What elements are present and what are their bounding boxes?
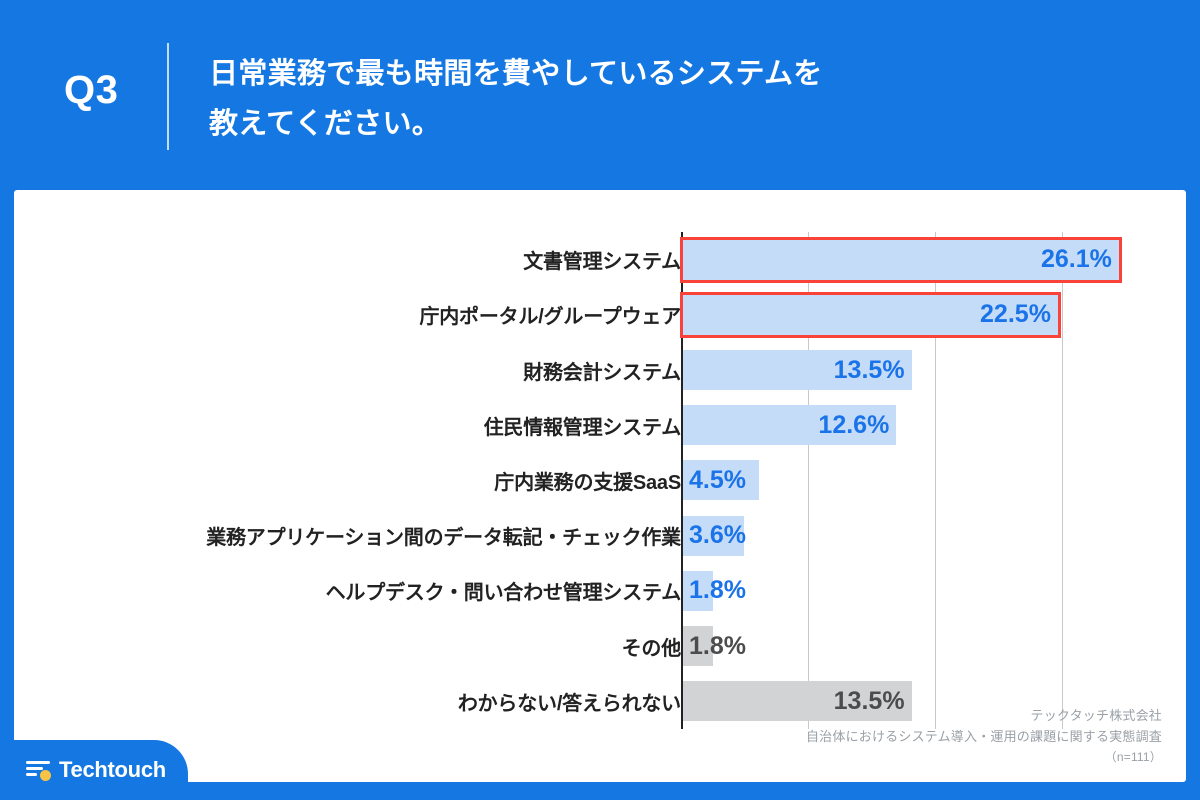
bar: 22.5%	[680, 292, 1061, 338]
bar-category-label: 住民情報管理システム	[484, 398, 681, 453]
bar-row: 財務会計システム13.5%	[14, 342, 1186, 397]
bar: 12.6%	[683, 405, 896, 445]
credits-company: テックタッチ株式会社	[806, 705, 1162, 726]
bar-wrapper: 1.8%	[683, 619, 713, 674]
credits-survey: 自治体におけるシステム導入・運用の課題に関する実態調査	[806, 726, 1162, 747]
bar-row: ヘルプデスク・問い合わせ管理システム1.8%	[14, 563, 1186, 618]
bar-category-label: その他	[622, 619, 681, 674]
bar-value-label: 12.6%	[818, 411, 896, 440]
bar-category-label: 財務会計システム	[523, 342, 681, 397]
bar-row: 住民情報管理システム12.6%	[14, 398, 1186, 453]
bar-value-label: 1.8%	[689, 576, 746, 605]
bar-category-label: わからない/答えられない	[458, 674, 681, 729]
page-title: 日常業務で最も時間を費やしているシステムを 教えてください。	[209, 49, 1139, 149]
slide-header: Q3 日常業務で最も時間を費やしているシステムを 教えてください。	[0, 0, 1200, 190]
bar-wrapper: 1.8%	[683, 563, 713, 618]
credits-sample-size: （n=111）	[806, 747, 1162, 768]
bar-row: その他1.8%	[14, 619, 1186, 674]
bar: 26.1%	[680, 237, 1122, 283]
page-title-line-2: 教えてください。	[209, 99, 1139, 149]
lines-dot-icon	[26, 759, 52, 781]
bar-value-label: 26.1%	[1041, 245, 1119, 274]
bar-wrapper: 13.5%	[683, 342, 912, 397]
credits: テックタッチ株式会社 自治体におけるシステム導入・運用の課題に関する実態調査 （…	[806, 705, 1162, 768]
header-divider	[167, 43, 169, 150]
bar: 1.8%	[683, 626, 713, 666]
bar-category-label: 業務アプリケーション間のデータ転記・チェック作業	[206, 508, 681, 563]
bar-value-label: 3.6%	[689, 521, 746, 550]
bar: 4.5%	[683, 460, 759, 500]
bar: 3.6%	[683, 516, 744, 556]
bar-category-label: 庁内業務の支援SaaS	[494, 453, 681, 508]
bar: 1.8%	[683, 571, 713, 611]
bar-chart: 文書管理システム26.1%庁内ポータル/グループウェア22.5%財務会計システム…	[14, 190, 1186, 782]
bar-value-label: 22.5%	[980, 300, 1058, 329]
bar-wrapper: 3.6%	[683, 508, 744, 563]
chart-card: 文書管理システム26.1%庁内ポータル/グループウェア22.5%財務会計システム…	[14, 190, 1186, 782]
bar-wrapper: 4.5%	[683, 453, 759, 508]
bar-category-label: 庁内ポータル/グループウェア	[419, 287, 681, 342]
bar-row: 庁内業務の支援SaaS4.5%	[14, 453, 1186, 508]
bar-value-label: 4.5%	[689, 466, 746, 495]
bar-category-label: ヘルプデスク・問い合わせ管理システム	[326, 563, 681, 618]
bar-value-label: 13.5%	[834, 356, 912, 385]
techtouch-logo[interactable]: Techtouch	[26, 757, 166, 783]
bar-value-label: 1.8%	[689, 632, 746, 661]
bar: 13.5%	[683, 350, 912, 390]
bar-rows: 文書管理システム26.1%庁内ポータル/グループウェア22.5%財務会計システム…	[14, 232, 1186, 729]
bar-row: 文書管理システム26.1%	[14, 232, 1186, 287]
logo-text: Techtouch	[59, 757, 166, 783]
bar-row: 庁内ポータル/グループウェア22.5%	[14, 287, 1186, 342]
bar-wrapper: 22.5%	[683, 287, 1061, 342]
question-number: Q3	[64, 68, 160, 113]
bar-row: 業務アプリケーション間のデータ転記・チェック作業3.6%	[14, 508, 1186, 563]
bar-wrapper: 26.1%	[683, 232, 1122, 287]
page-title-line-1: 日常業務で最も時間を費やしているシステムを	[209, 49, 1139, 99]
bar-category-label: 文書管理システム	[523, 232, 681, 287]
bar-wrapper: 12.6%	[683, 398, 896, 453]
slide: Q3 日常業務で最も時間を費やしているシステムを 教えてください。 文書管理シス…	[0, 0, 1200, 800]
